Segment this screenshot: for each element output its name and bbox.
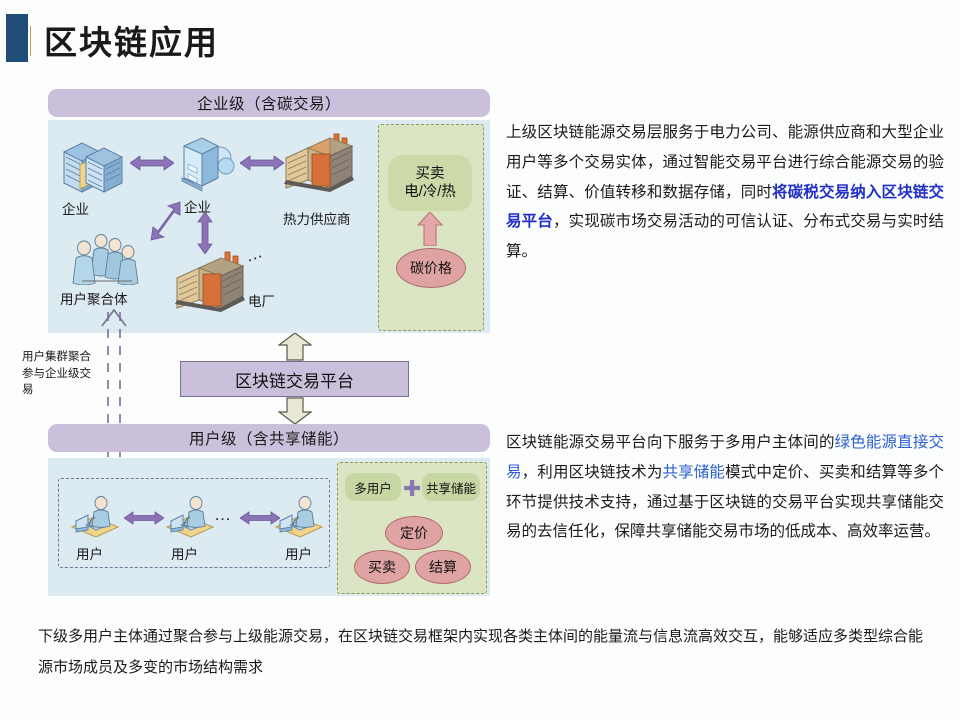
paragraph-enterprise: 上级区块链能源交易层服务于电力公司、能源供应商和大型企业用户等多个交易实体，通过…: [506, 118, 944, 267]
user-3-label: 用户: [285, 543, 312, 563]
user-at-computer-icon-2: [163, 495, 219, 539]
carbon-price-ellipse: 碳价格: [396, 248, 466, 288]
double-arrow-horizontal-icon: [130, 155, 174, 176]
user-2-label: 用户: [171, 543, 198, 563]
multi-user-pill: 多用户: [345, 473, 401, 501]
user-layer-header: 用户级（含共享储能）: [48, 424, 490, 452]
power-plant-label: 电厂: [248, 290, 275, 310]
paragraph-user-part1: 区块链能源交易平台向下服务于多用户主体间的: [506, 434, 835, 451]
enterprise-1-label: 企业: [62, 198, 89, 218]
up-arrow-icon: [417, 212, 443, 246]
buy-sell-line1: 买卖: [416, 165, 445, 183]
shared-storage-pill: 共享储能: [422, 473, 480, 501]
slide-canvas: 区块链应用 企业级（含碳交易）: [0, 0, 960, 720]
office-buildings-icon: [56, 135, 128, 193]
trading-ellipse: 买卖: [354, 550, 410, 584]
paragraph-footer: 下级多用户主体通过聚合参与上级能源交易，在区块链交易框架内实现各类主体间的能量流…: [38, 622, 936, 684]
double-arrow-horizontal-icon-2: [240, 155, 284, 176]
server-cloud-icon: [176, 132, 238, 192]
double-arrow-down-icon: [278, 397, 312, 425]
paragraph-user-part2: ，利用区块链技术为: [522, 464, 663, 481]
user-ellipsis: …: [214, 506, 234, 523]
paragraph-user-highlight2: 共享储能: [662, 464, 725, 481]
page-title: 区块链应用: [44, 16, 219, 64]
enterprise-layer-header: 企业级（含碳交易）: [48, 89, 490, 117]
user-1-label: 用户: [76, 543, 103, 563]
double-arrow-up-icon: [278, 333, 312, 361]
plus-icon: ✚: [403, 478, 421, 500]
title-accent-bar: [6, 14, 28, 62]
pricing-ellipse: 定价: [385, 516, 443, 550]
enterprise-layer-header-label: 企业级（含碳交易）: [197, 92, 341, 114]
user-at-computer-icon: [68, 495, 124, 539]
factory-icon: [282, 130, 364, 192]
user-at-computer-icon-3: [272, 495, 328, 539]
paragraph-user: 区块链能源交易平台向下服务于多用户主体间的绿色能源直接交易，利用区块链技术为共享…: [506, 428, 944, 547]
blockchain-platform-label: 区块链交易平台: [235, 367, 354, 392]
paragraph-enterprise-part2: ，实现碳市场交易活动的可信认证、分布式交易与实时结算。: [506, 213, 944, 260]
title-divider: [30, 26, 31, 56]
buy-sell-line2: 电/冷/热: [404, 183, 456, 201]
people-group-icon: [70, 233, 156, 285]
heat-supplier-label: 热力供应商: [283, 208, 351, 228]
user-arrow-1-icon: [124, 511, 164, 530]
power-plant-icon: [173, 250, 255, 312]
user-layer-header-label: 用户级（含共享储能）: [189, 427, 349, 449]
settlement-ellipse: 结算: [415, 550, 471, 584]
aggregation-note: 用户集群聚合参与企业级交易: [22, 349, 96, 399]
buy-sell-energy-box: 买卖 电/冷/热: [388, 155, 472, 211]
blockchain-platform-box[interactable]: 区块链交易平台: [180, 361, 409, 397]
